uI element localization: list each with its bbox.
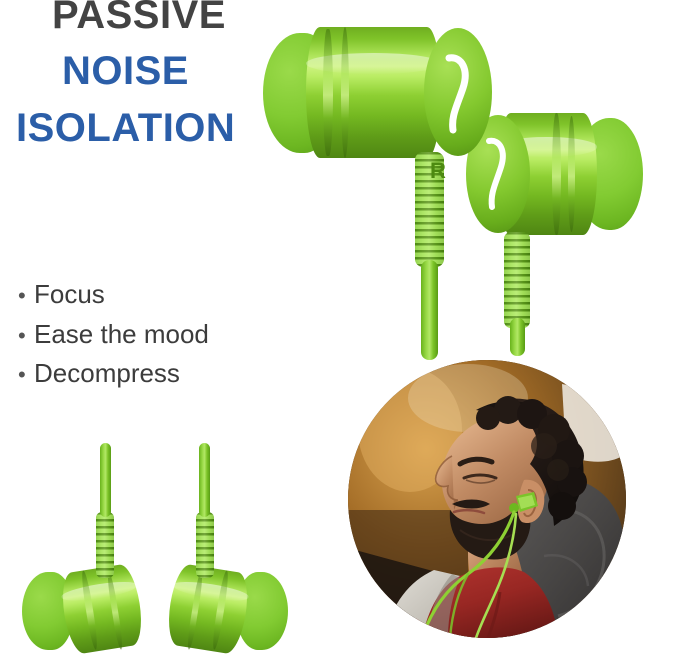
benefit-label: Ease the mood bbox=[34, 315, 209, 355]
brand-wave-logo-icon bbox=[424, 28, 492, 156]
benefit-label: Decompress bbox=[34, 354, 180, 394]
barrel-ring bbox=[341, 27, 349, 158]
barrel-ring bbox=[323, 29, 333, 156]
list-item: • Ease the mood bbox=[18, 315, 308, 355]
list-item: • Decompress bbox=[18, 354, 308, 394]
headline-line-noise: NOISE bbox=[62, 50, 284, 92]
strain-relief-ribs bbox=[196, 512, 214, 578]
strain-relief-ribs bbox=[504, 232, 530, 328]
lifestyle-photo-illustration bbox=[348, 360, 626, 638]
bullet-icon: • bbox=[18, 285, 34, 307]
strain-relief bbox=[196, 512, 214, 578]
strain-relief-ribs bbox=[96, 512, 114, 578]
earbud-cable bbox=[100, 443, 111, 517]
barrel-ring bbox=[568, 116, 575, 232]
channel-label-right: R bbox=[430, 158, 446, 184]
earbud-cable bbox=[199, 443, 210, 517]
barrel-ring bbox=[552, 113, 561, 235]
strain-relief bbox=[504, 232, 530, 328]
headline-line-isolation: ISOLATION bbox=[16, 107, 284, 149]
list-item: • Focus bbox=[18, 275, 308, 315]
benefits-list: • Focus • Ease the mood • Decompress bbox=[18, 275, 308, 394]
product-marketing-image: PASSIVE NOISE ISOLATION • Focus • Ease t… bbox=[0, 0, 679, 657]
earbud-cable bbox=[510, 318, 525, 356]
headline-block: PASSIVE NOISE ISOLATION bbox=[14, 0, 284, 149]
bullet-icon: • bbox=[18, 364, 34, 386]
strain-relief bbox=[96, 512, 114, 578]
bullet-icon: • bbox=[18, 325, 34, 347]
earbud-back-cap bbox=[424, 28, 492, 156]
earbud-cable bbox=[421, 260, 438, 360]
benefit-label: Focus bbox=[34, 275, 105, 315]
headline-line-passive: PASSIVE bbox=[52, 0, 284, 36]
lifestyle-photo bbox=[348, 360, 626, 638]
